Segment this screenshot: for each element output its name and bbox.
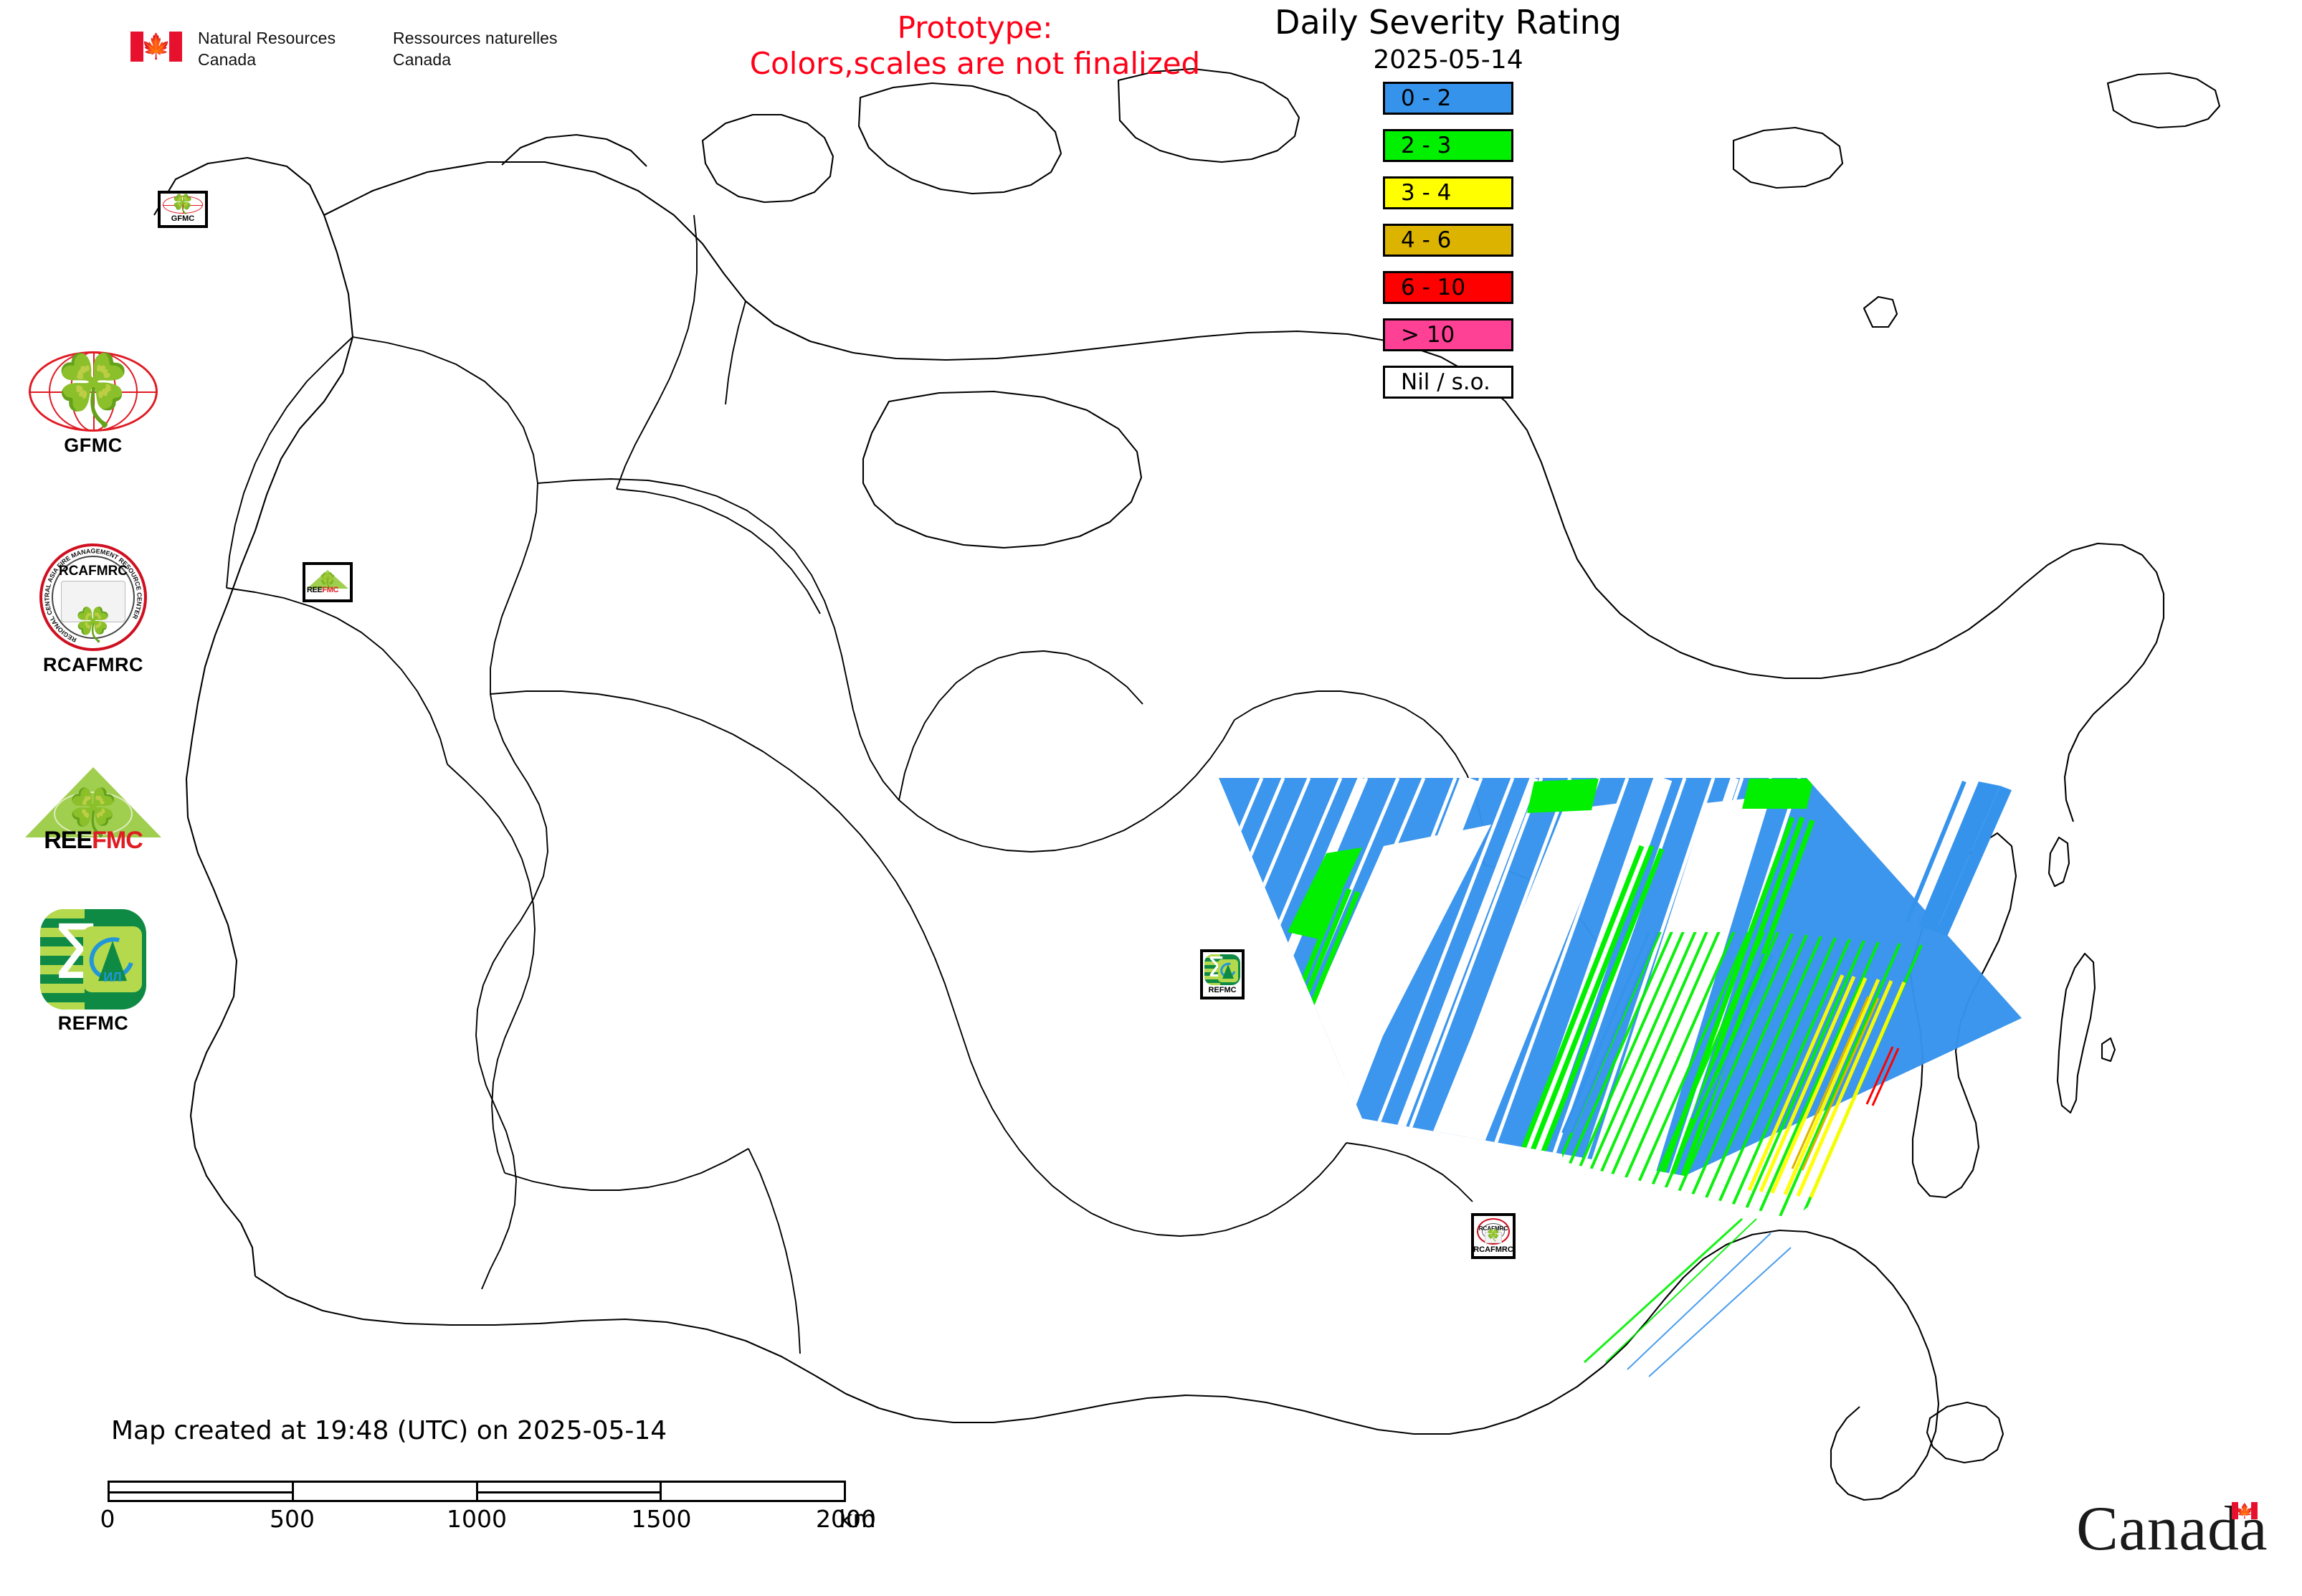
refmc-sigma-tree-icon: Σ	[1204, 954, 1240, 985]
canada-wordmark: Canada 🍁	[2076, 1501, 2258, 1559]
legend-label: 6 - 10	[1401, 275, 1465, 300]
partner-logo-gfmc: 🍀 GFMC	[22, 351, 165, 457]
reefmc-triangle-flame-icon: 🍀 REEFMC	[307, 570, 348, 594]
map-marker-label: RCAFMRC	[1473, 1246, 1513, 1254]
legend-label: > 10	[1401, 322, 1455, 348]
legend-item-6-10[interactable]: 6 - 10	[1383, 271, 1513, 304]
legend-item-gt-10[interactable]: > 10	[1383, 318, 1513, 351]
map-base-layer	[0, 0, 2302, 1596]
scale-tick-labels: 0 500 1000 1500 2000 km	[108, 1505, 846, 1539]
reefmc-wordmark-b: FMC	[92, 827, 143, 854]
legend-item-2-3[interactable]: 2 - 3	[1383, 129, 1513, 162]
partner-caption: GFMC	[22, 434, 165, 457]
dsr-swath-overlay	[1118, 774, 2029, 1377]
partner-logo-reefmc: 🍀 REEFMC .	[22, 767, 165, 880]
legend-item-nil[interactable]: Nil / s.o.	[1383, 366, 1513, 399]
legend-label: 3 - 4	[1401, 180, 1451, 206]
map-marker-gfmc[interactable]: 🍀 GFMC	[158, 191, 208, 228]
nrcan-signature: 🍁 Natural Resources Canada Ressources na…	[130, 27, 579, 71]
legend-label: 4 - 6	[1401, 227, 1451, 253]
map-marker-label: GFMC	[171, 215, 194, 223]
legend-item-4-6[interactable]: 4 - 6	[1383, 224, 1513, 257]
legend-item-3-4[interactable]: 3 - 4	[1383, 176, 1513, 209]
legend-label: 2 - 3	[1401, 133, 1451, 158]
scale-segment-2	[294, 1483, 478, 1500]
partner-caption: RCAFMRC	[22, 654, 165, 676]
scale-bar	[108, 1481, 846, 1502]
map-marker-label: REFMC	[1208, 987, 1236, 994]
reefmc-wordmark-a: REE	[307, 586, 322, 594]
nrcan-name-en: Natural Resources Canada	[198, 27, 377, 71]
reefmc-wordmark-b: FMC	[322, 586, 338, 594]
partner-logo-rcafmrc: REGIONAL CENTRAL ASIA FIRE MANAGEMENT RE…	[22, 543, 165, 676]
prototype-line-2: Colors,scales are not finalized	[688, 46, 1262, 82]
canada-flag-icon: 🍁	[130, 32, 182, 62]
refmc-sigma-tree-icon: Σ ИЛ	[40, 909, 146, 1010]
canada-flag-icon: 🍁	[2232, 1502, 2258, 1519]
gfmc-globe-flame-icon: 🍀	[29, 351, 158, 432]
scale-tick-1000: 1000	[447, 1505, 507, 1533]
gfmc-globe-flame-icon: 🍀	[163, 196, 203, 214]
rcafmrc-seal-icon: RCAFMRC 🍀	[1477, 1218, 1510, 1245]
partner-logo-refmc: Σ ИЛ REFMC	[22, 909, 165, 1035]
scale-tick-500: 500	[270, 1505, 315, 1533]
rcafmrc-seal-icon: REGIONAL CENTRAL ASIA FIRE MANAGEMENT RE…	[39, 543, 147, 651]
prototype-line-1: Prototype:	[688, 10, 1262, 46]
map-marker-refmc[interactable]: Σ REFMC	[1200, 949, 1245, 999]
legend-label: 0 - 2	[1401, 85, 1451, 111]
reefmc-wordmark-a: REE	[44, 827, 92, 854]
coastlines	[154, 69, 2220, 1500]
scale-segment-4	[662, 1483, 844, 1500]
scale-bar-group: 0 500 1000 1500 2000 km	[108, 1481, 932, 1539]
scale-segment-3	[478, 1483, 662, 1500]
legend-items: 0 - 2 2 - 3 3 - 4 4 - 6 6 - 10 > 10 Nil …	[1247, 82, 1649, 399]
map-marker-reefmc[interactable]: 🍀 REEFMC	[303, 562, 353, 602]
partner-caption: REFMC	[22, 1012, 165, 1035]
reefmc-triangle-flame-icon: 🍀 REEFMC	[25, 767, 161, 855]
scale-segment-1	[110, 1483, 294, 1500]
legend-item-0-2[interactable]: 0 - 2	[1383, 82, 1513, 115]
map-marker-rcafmrc[interactable]: RCAFMRC 🍀 RCAFMRC	[1471, 1213, 1516, 1259]
legend-title: Daily Severity Rating	[1247, 4, 1649, 41]
map-created-timestamp: Map created at 19:48 (UTC) on 2025-05-14	[111, 1416, 667, 1445]
scale-tick-0: 0	[100, 1505, 115, 1533]
refmc-inner-text: ИЛ	[103, 970, 122, 985]
legend-date: 2025-05-14	[1247, 45, 1649, 75]
legend-panel: Daily Severity Rating 2025-05-14 0 - 2 2…	[1247, 4, 1649, 399]
prototype-warning: Prototype: Colors,scales are not finaliz…	[688, 10, 1262, 81]
scale-tick-1500: 1500	[632, 1505, 692, 1533]
legend-label: Nil / s.o.	[1401, 369, 1490, 395]
nrcan-name-fr: Ressources naturelles Canada	[393, 27, 579, 71]
scale-unit-label: km	[839, 1505, 875, 1533]
